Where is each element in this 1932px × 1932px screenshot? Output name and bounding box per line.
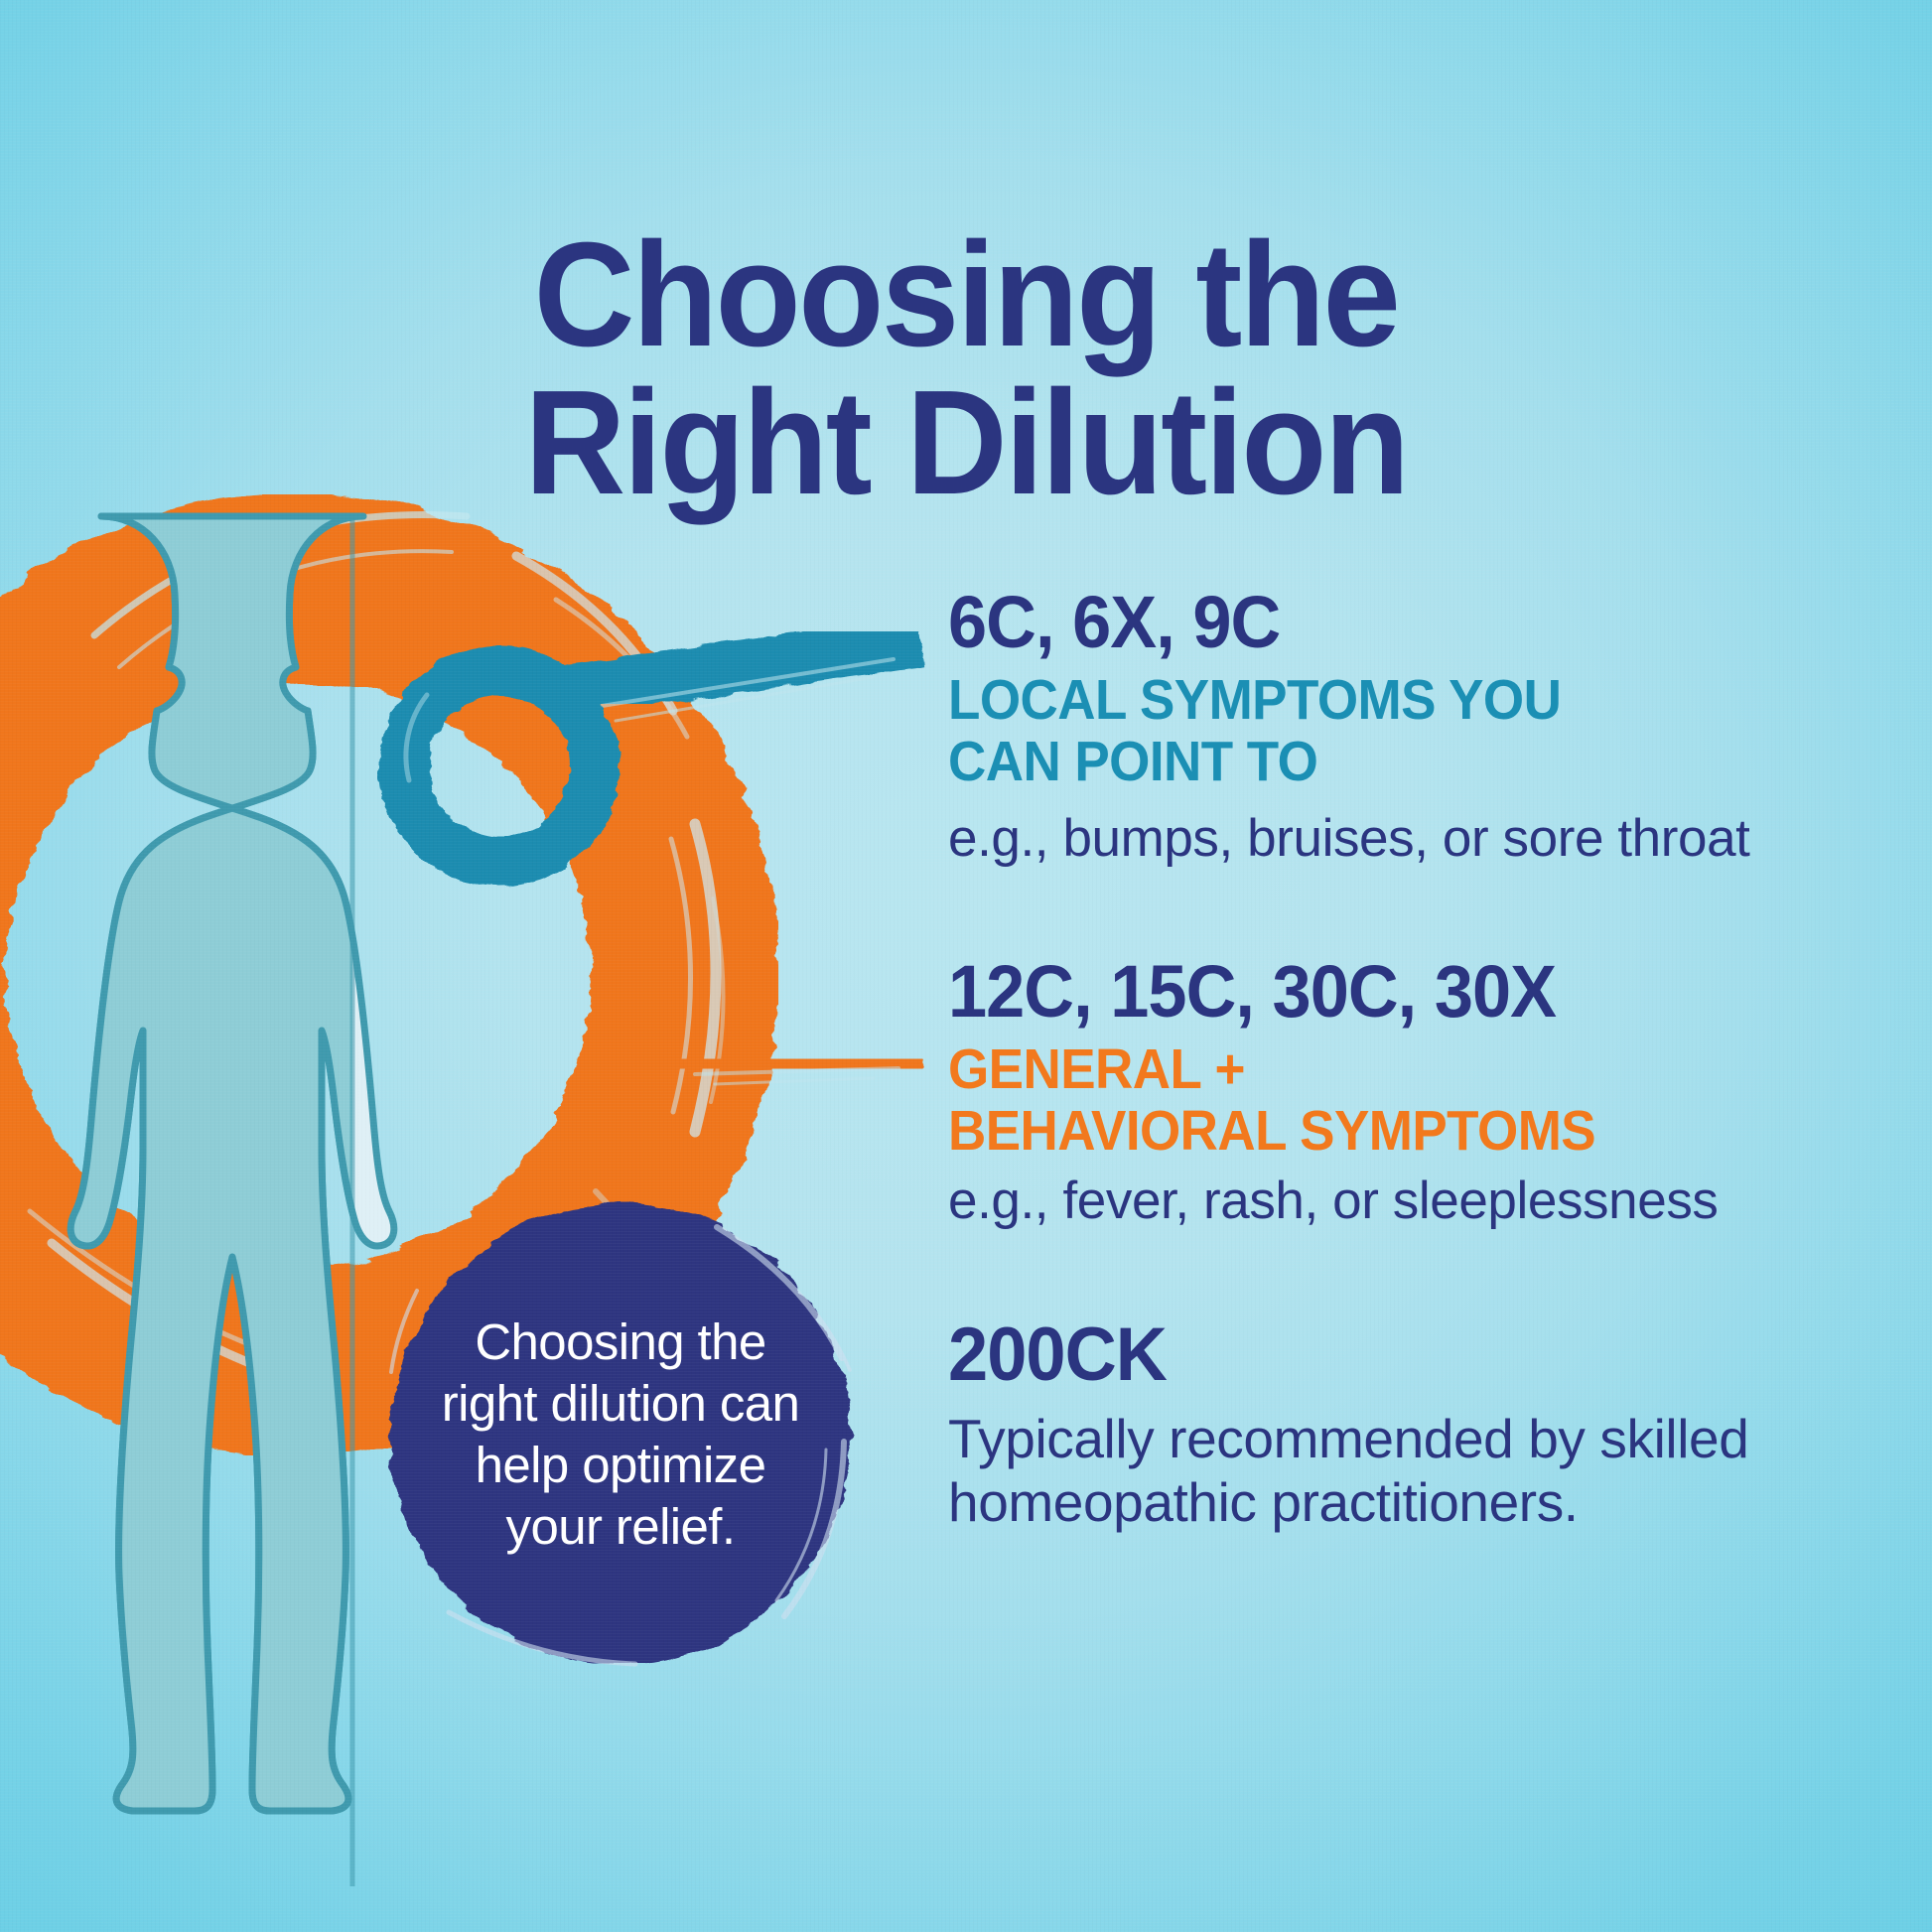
dilution-block-2: 12C, 15C, 30C, 30X GENERAL + BEHAVIORAL … — [948, 955, 1862, 1231]
dilution-heading-1: 6C, 6X, 9C — [948, 586, 1816, 659]
dilution-subhead-2-line-1: GENERAL + — [948, 1038, 1798, 1100]
dilution-example-3: Typically recommended by skilled homeopa… — [948, 1407, 1862, 1536]
dilution-example-2: e.g., fever, rash, or sleeplessness — [948, 1171, 1862, 1232]
dilution-subhead-2-line-2: BEHAVIORAL SYMPTOMS — [948, 1100, 1798, 1162]
dilution-block-3: 200CK Typically recommended by skilled h… — [948, 1317, 1862, 1536]
dilution-subhead-1: LOCAL SYMPTOMS YOU CAN POINT TO — [948, 669, 1798, 792]
title-line-1: Choosing the — [0, 216, 1932, 372]
dilution-subhead-1-line-2: CAN POINT TO — [948, 731, 1798, 792]
dilution-heading-2: 12C, 15C, 30C, 30X — [948, 955, 1816, 1029]
infographic-poster: Choosing the Right Dilution 6C, 6X, 9C L… — [0, 0, 1932, 1932]
title-line-2: Right Dilution — [0, 363, 1932, 519]
dilution-example-3-line-1: Typically recommended by skilled — [948, 1407, 1862, 1471]
dilution-list: 6C, 6X, 9C LOCAL SYMPTOMS YOU CAN POINT … — [948, 586, 1862, 1535]
dilution-example-1: e.g., bumps, bruises, or sore throat — [948, 808, 1862, 870]
dilution-example-3-line-2: homeopathic practitioners. — [948, 1470, 1862, 1535]
dilution-heading-3: 200CK — [948, 1317, 1816, 1393]
page-title: Choosing the Right Dilution — [0, 220, 1932, 514]
callout-badge: Choosing the right dilution can help opt… — [385, 1199, 856, 1670]
dilution-subhead-1-line-1: LOCAL SYMPTOMS YOU — [948, 669, 1798, 731]
dilution-subhead-2: GENERAL + BEHAVIORAL SYMPTOMS — [948, 1038, 1798, 1162]
callout-text: Choosing the right dilution can help opt… — [437, 1311, 804, 1559]
dilution-block-1: 6C, 6X, 9C LOCAL SYMPTOMS YOU CAN POINT … — [948, 586, 1862, 870]
orange-brush-pointer — [635, 1060, 923, 1067]
